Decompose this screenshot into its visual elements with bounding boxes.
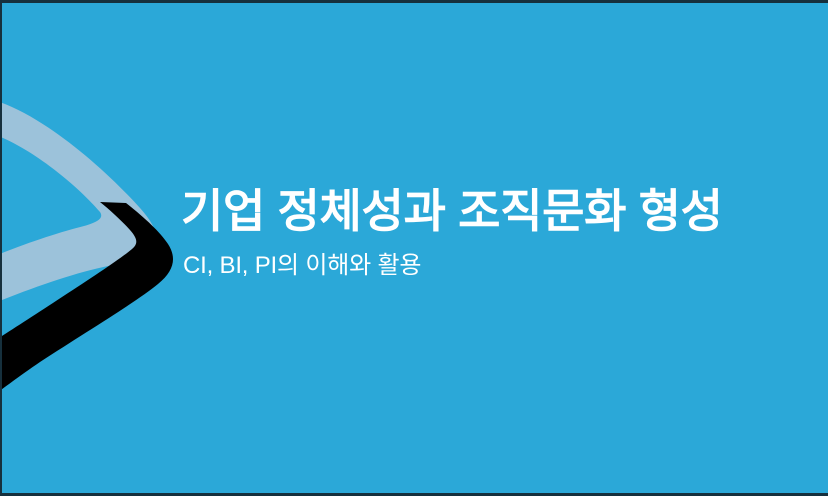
page-title: 기업 정체성과 조직문화 형성: [181, 186, 781, 238]
title-slide: 기업 정체성과 조직문화 형성 CI, BI, PI의 이해와 활용: [0, 0, 828, 496]
edge-rule-left: [0, 0, 2, 496]
title-block: 기업 정체성과 조직문화 형성 CI, BI, PI의 이해와 활용: [181, 186, 781, 280]
page-subtitle: CI, BI, PI의 이해와 활용: [183, 252, 781, 281]
edge-rule-top: [0, 0, 828, 3]
